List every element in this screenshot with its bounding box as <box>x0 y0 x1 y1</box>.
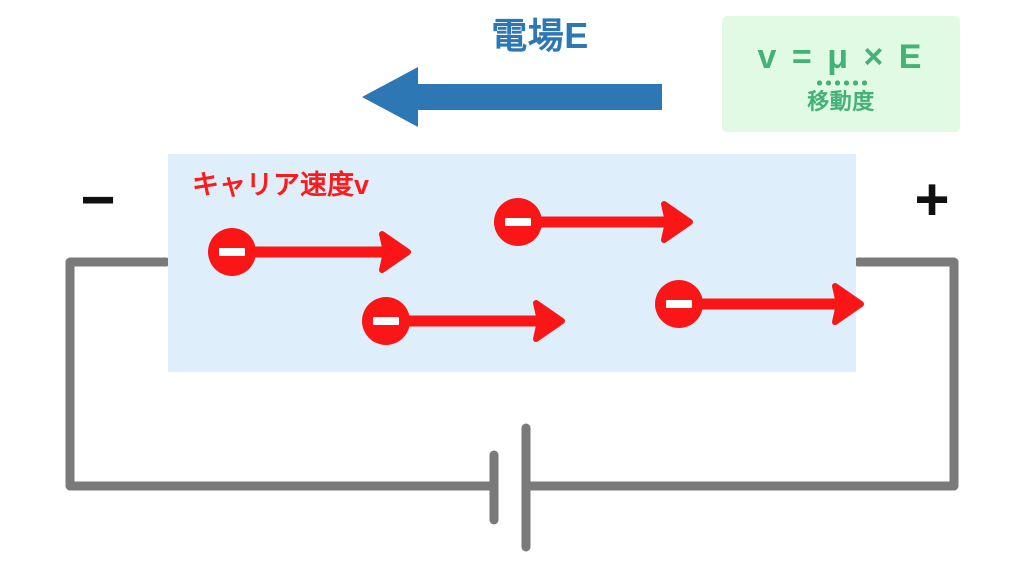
mobility-formula-expression: v = μ × E <box>758 40 925 74</box>
carrier-1 <box>208 222 408 282</box>
carrier-3 <box>362 291 562 351</box>
electric-field-arrow <box>362 62 662 132</box>
carrier-4 <box>655 274 861 334</box>
mobility-formula-box: v = μ × E 移動度 <box>722 16 960 132</box>
electric-field-label: 電場E <box>430 18 650 54</box>
mobility-caption: 移動度 <box>807 91 875 113</box>
positive-terminal-sign: + <box>897 170 967 230</box>
carrier-velocity-label: キャリア速度v <box>192 172 369 199</box>
diagram-canvas: 電場E v = μ × E 移動度 キャリア速度v − + <box>0 0 1024 561</box>
dotted-underline <box>815 80 871 86</box>
carrier-2 <box>494 192 690 252</box>
negative-terminal-sign: − <box>63 170 133 230</box>
